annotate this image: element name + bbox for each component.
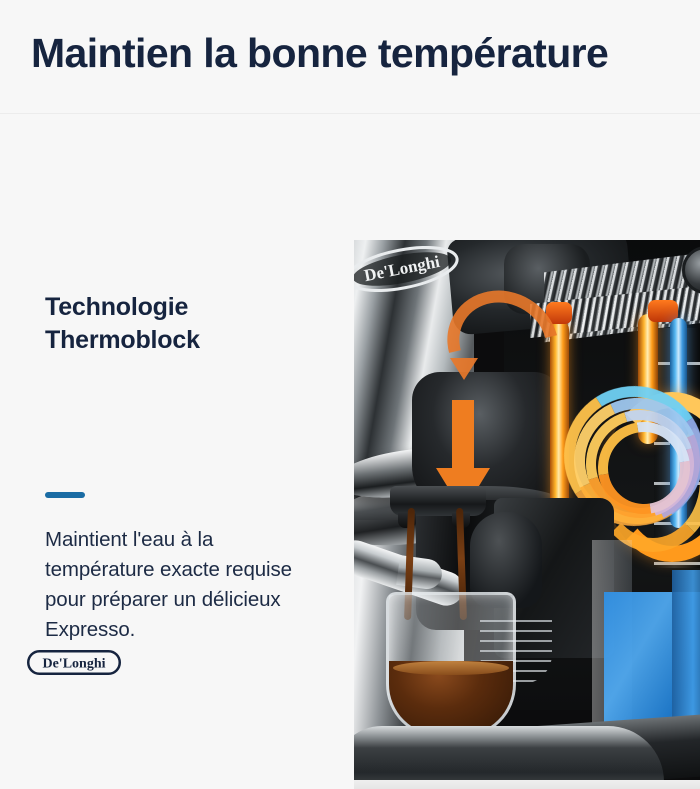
counter-surface — [354, 780, 700, 789]
product-feature-card: Maintien la bonne température Technologi… — [0, 0, 700, 700]
page-title: Maintien la bonne température — [31, 30, 608, 77]
flow-arrow-down-shaft — [452, 400, 474, 476]
product-photo: De'Longhi — [354, 240, 700, 789]
text-column: Technologie Thermoblock Maintient l'eau … — [0, 115, 354, 700]
machine-brand-badge: De'Longhi — [354, 246, 474, 292]
delonghi-logo-icon: De'Longhi — [27, 650, 121, 675]
espresso-crema — [393, 661, 509, 675]
delonghi-logo: De'Longhi — [27, 650, 121, 675]
accent-divider — [45, 492, 85, 498]
photo-illustration: De'Longhi — [354, 240, 700, 789]
espresso-cup — [386, 592, 516, 738]
flow-arrow-curved-head — [450, 358, 478, 380]
feature-description: Maintient l'eau à la température exacte … — [45, 525, 320, 645]
content-area: Technologie Thermoblock Maintient l'eau … — [0, 115, 700, 700]
espresso-liquid — [389, 661, 513, 735]
header: Maintien la bonne température — [0, 0, 700, 114]
delonghi-logo-text: De'Longhi — [42, 657, 105, 672]
feature-title: Technologie Thermoblock — [45, 291, 305, 358]
